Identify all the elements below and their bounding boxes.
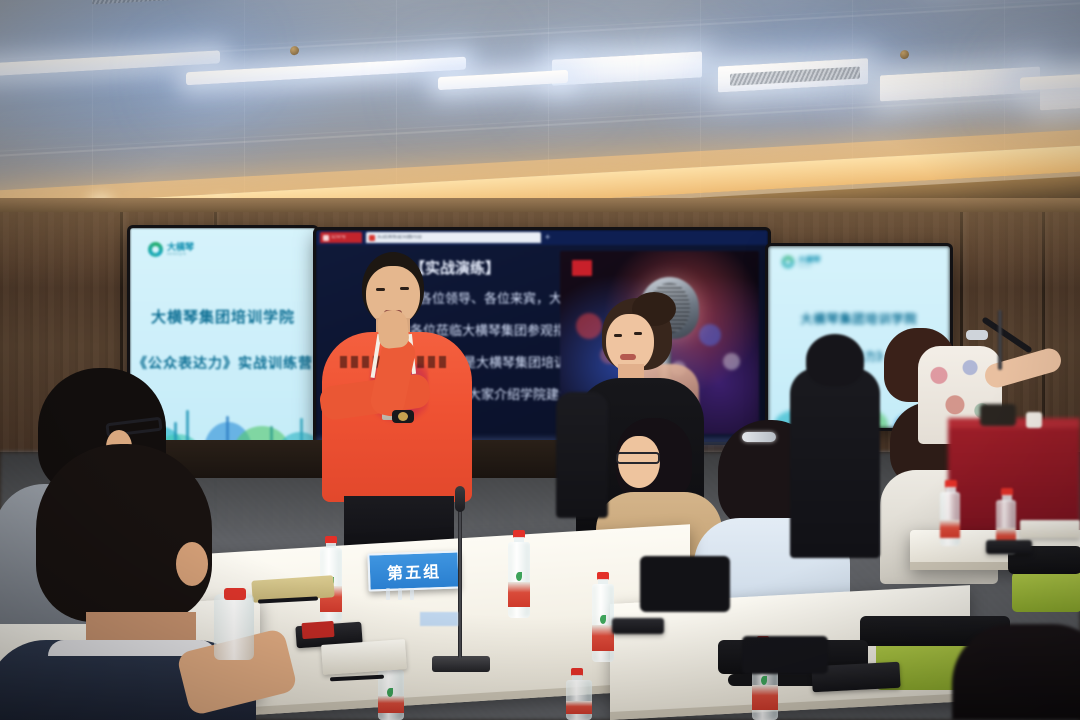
browser-tab-active[interactable]: 实战演练提词器内容 — [366, 232, 541, 243]
left-slide-logo: 大横琴 HENGQIN — [148, 242, 194, 257]
host-eye — [634, 332, 642, 335]
logo-text-en: HENGQIN — [167, 253, 194, 256]
browser-tab-title: 实战演练提词器内容 — [377, 235, 422, 240]
bottle-label — [940, 520, 960, 538]
browser-tab-bar[interactable]: 公众号 实战演练提词器内容 + — [316, 230, 768, 245]
host-mouth — [620, 354, 636, 360]
new-tab-button[interactable]: + — [545, 233, 550, 242]
foreground-head — [36, 444, 212, 622]
smartphone — [612, 618, 664, 634]
bag-on-chair — [742, 636, 828, 674]
held-water-bottle — [214, 594, 254, 660]
microphone-base — [432, 656, 490, 672]
bottle-label — [378, 696, 404, 713]
red-table-cup — [1026, 412, 1042, 428]
tab-favicon-icon — [323, 235, 329, 241]
water-bottle — [566, 668, 592, 720]
presenter-eye — [376, 288, 385, 291]
smartphone-red-case — [301, 621, 334, 639]
foreground-attendee-navy — [26, 444, 286, 720]
hengqin-logo-icon — [148, 242, 163, 257]
name-card-stand — [398, 588, 402, 600]
name-card-stand — [386, 588, 390, 600]
tab-favicon-icon — [369, 235, 375, 241]
paper-sheet — [420, 612, 458, 626]
desk-microphone — [980, 300, 1020, 370]
microphone-pole — [998, 310, 1002, 370]
foreground-attendee-right — [952, 624, 1080, 720]
attendee-standing-black — [556, 392, 608, 518]
logo-text-en: HENGQIN — [798, 265, 821, 268]
water-bottle — [940, 480, 960, 546]
hengqin-logo-icon — [782, 256, 794, 268]
presenter-eye — [400, 287, 409, 290]
chair — [1008, 546, 1080, 626]
presenter-watch-face — [398, 412, 408, 421]
water-bottle — [508, 530, 530, 618]
attendee-dark-suit — [790, 368, 880, 558]
training-room-photo: 大横琴 HENGQIN 大横琴集团培训学院 《公众表达力》实战训练营 — [0, 0, 1080, 720]
water-bottle — [592, 572, 614, 662]
desk-microphone — [426, 486, 484, 672]
bottle-label — [752, 685, 778, 709]
attendee-dark-suit-head — [806, 334, 864, 386]
foreground-ear — [176, 542, 208, 586]
attendee-glasses-icon — [616, 452, 660, 464]
browser-tab-red-label: 公众号 — [331, 235, 346, 240]
name-card-stand — [410, 588, 414, 600]
held-bottle-cap — [224, 588, 246, 600]
smartphone — [986, 540, 1032, 554]
logo-text-cn: 大横琴 — [167, 243, 194, 252]
bottle-label — [508, 582, 530, 608]
right-slide-logo: 大横琴 HENGQIN — [782, 256, 821, 268]
chair-back — [640, 556, 730, 612]
attendee-hair-clip — [742, 432, 776, 442]
chair — [640, 556, 730, 616]
microphone-capsule-icon — [455, 486, 465, 512]
presenter-hand — [376, 309, 410, 350]
chair-seat — [1012, 572, 1080, 612]
notebook — [1020, 520, 1080, 538]
bottle-label — [592, 625, 614, 652]
left-slide-title: 大横琴集团培训学院 — [130, 306, 316, 327]
notebook — [321, 639, 407, 675]
logo-text-cn: 大横琴 — [798, 256, 821, 264]
host-eye — [614, 334, 622, 337]
bottle-leaf-icon — [600, 615, 606, 624]
microphone-pole — [458, 508, 462, 658]
red-table-items — [980, 404, 1016, 426]
artwork-badge-icon — [572, 260, 592, 276]
browser-tab-pinned[interactable]: 公众号 — [320, 232, 362, 243]
bottle-label — [566, 701, 592, 715]
